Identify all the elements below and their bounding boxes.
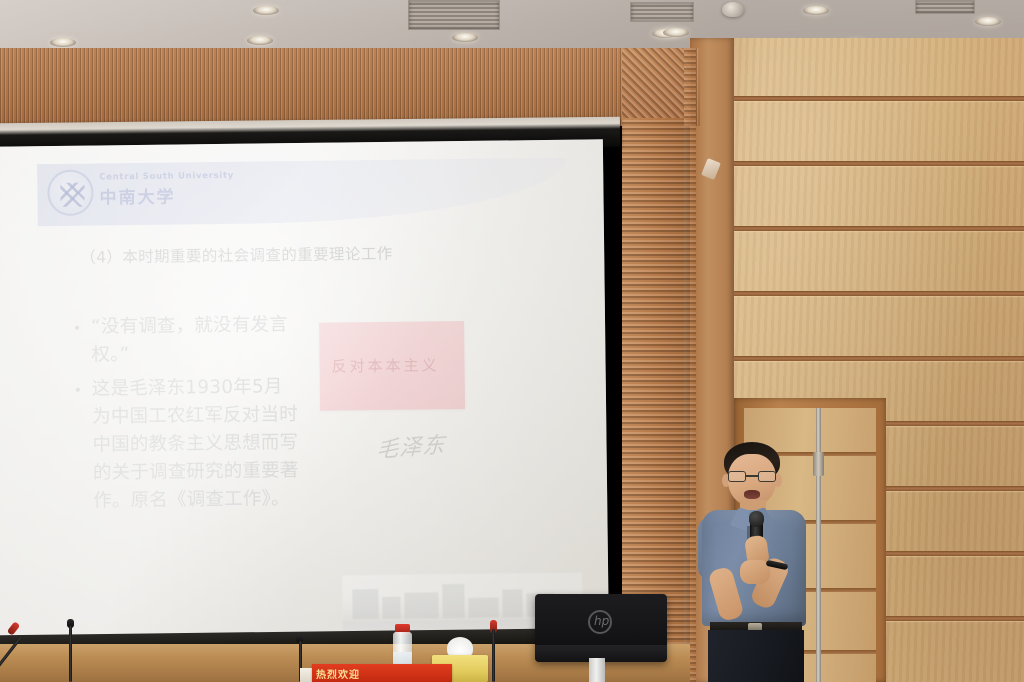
glasses-icon <box>728 471 776 482</box>
downlight-icon <box>975 17 1001 26</box>
book-cover: 反对本本主义 <box>319 321 465 411</box>
red-banner: 热烈欢迎 <box>312 664 452 682</box>
book-cover-artwork: 反对本本主义 毛泽东 <box>319 320 511 502</box>
mouth <box>744 490 760 499</box>
downlight-icon <box>663 28 689 37</box>
banner-text: 热烈欢迎 <box>316 666 360 681</box>
list-item: “没有调查，就没有发言权。” <box>67 311 300 370</box>
air-vent-icon <box>408 0 500 30</box>
glasses-bridge <box>746 475 758 477</box>
air-vent-icon <box>630 2 694 22</box>
emblem-glyph <box>60 183 84 207</box>
microphone-stem <box>69 626 72 682</box>
panel-seam <box>690 356 1024 361</box>
mao-signature: 毛泽东 <box>376 427 447 465</box>
slide-title: （4）本时期重要的社会调查的重要理论工作 <box>80 242 393 268</box>
microphone-stem <box>492 629 495 682</box>
ribbed-wood-header <box>0 48 700 126</box>
university-name-en: Central South University <box>99 171 234 183</box>
smoke-detector-icon <box>722 2 744 17</box>
panel-seam <box>690 226 1024 231</box>
book-cover-title: 反对本本主义 <box>331 354 439 376</box>
presenter <box>690 440 840 682</box>
glasses-lens <box>728 471 746 482</box>
projection-screen: Central South University 中南大学 （4）本时期重要的社… <box>0 139 609 661</box>
hp-logo-icon <box>588 610 612 634</box>
downlight-icon <box>50 38 76 47</box>
glasses-lens <box>758 471 776 482</box>
ribbed-corner-block <box>622 48 690 122</box>
list-item: 这是毛泽东1930年5月为中国工农红军反对当时中国的教条主义思想而写的关于调查研… <box>68 373 302 516</box>
lecture-hall-scene: Central South University 中南大学 （4）本时期重要的社… <box>0 0 1024 682</box>
downlight-icon <box>247 36 273 45</box>
panel-seam <box>690 291 1024 296</box>
air-vent-icon <box>915 0 975 14</box>
presentation-slide: Central South University 中南大学 （4）本时期重要的社… <box>37 158 573 644</box>
downlight-icon <box>253 6 279 15</box>
panel-seam <box>690 161 1024 166</box>
university-name-cn: 中南大学 <box>99 183 175 209</box>
slide-bullet-list: “没有调查，就没有发言权。” 这是毛泽东1930年5月为中国工农红军反对当时中国… <box>67 311 302 522</box>
downlight-icon <box>803 6 829 15</box>
microphone-grille-icon <box>749 511 764 527</box>
panel-seam <box>690 96 1024 101</box>
monitor-stand <box>589 658 605 682</box>
downlight-icon <box>452 33 478 42</box>
trousers <box>708 630 804 682</box>
